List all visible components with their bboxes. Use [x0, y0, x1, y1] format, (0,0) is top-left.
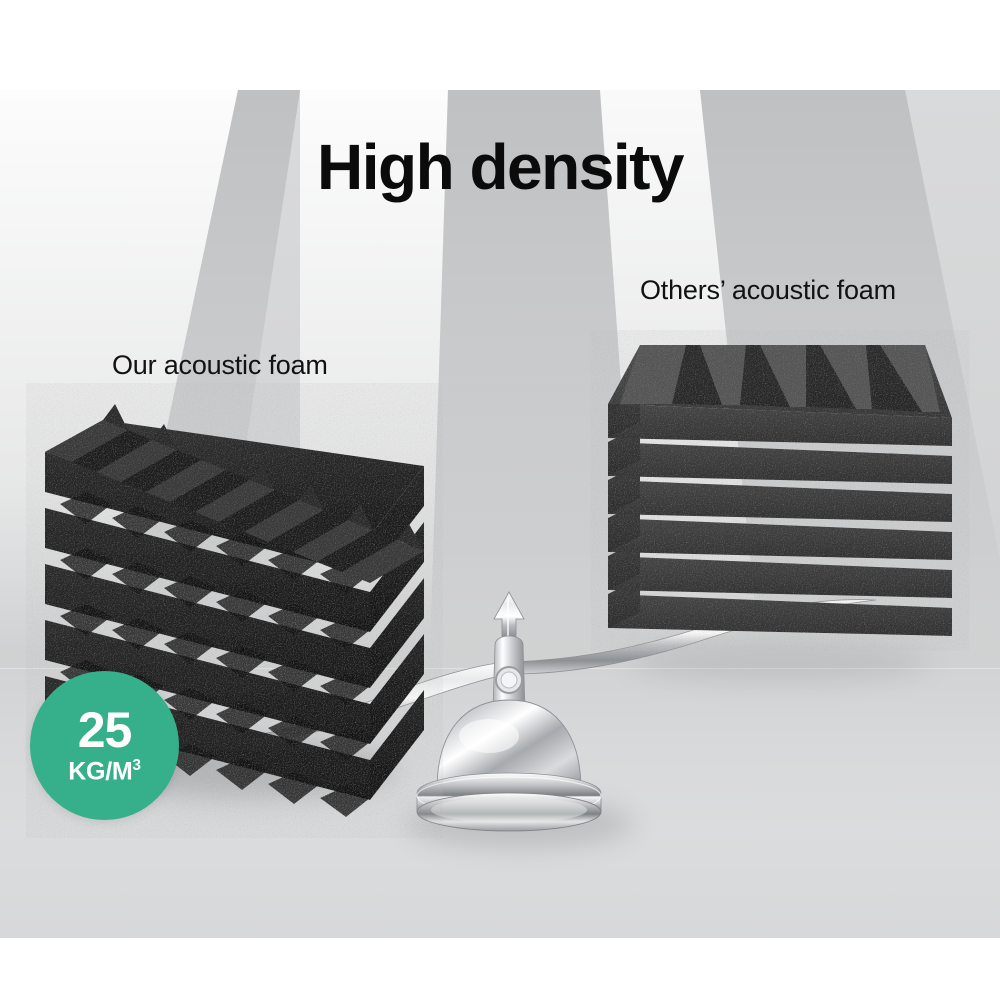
density-badge-unit: KG/M3: [68, 758, 140, 784]
top-white-band: [0, 0, 1000, 90]
density-badge: 25 KG/M3: [30, 671, 179, 820]
label-others-foam: Others’ acoustic foam: [640, 275, 896, 306]
density-badge-unit-text: KG/M: [68, 757, 132, 785]
density-badge-exponent: 3: [132, 757, 140, 774]
density-badge-value: 25: [78, 707, 132, 755]
others-foam-stack: [608, 345, 952, 636]
product-marketing-image: High density Our acoustic foam Others’ a…: [0, 0, 1000, 1000]
page-title: High density: [0, 134, 1000, 201]
bottom-white-band: [0, 938, 1000, 1000]
label-our-foam: Our acoustic foam: [112, 350, 328, 381]
